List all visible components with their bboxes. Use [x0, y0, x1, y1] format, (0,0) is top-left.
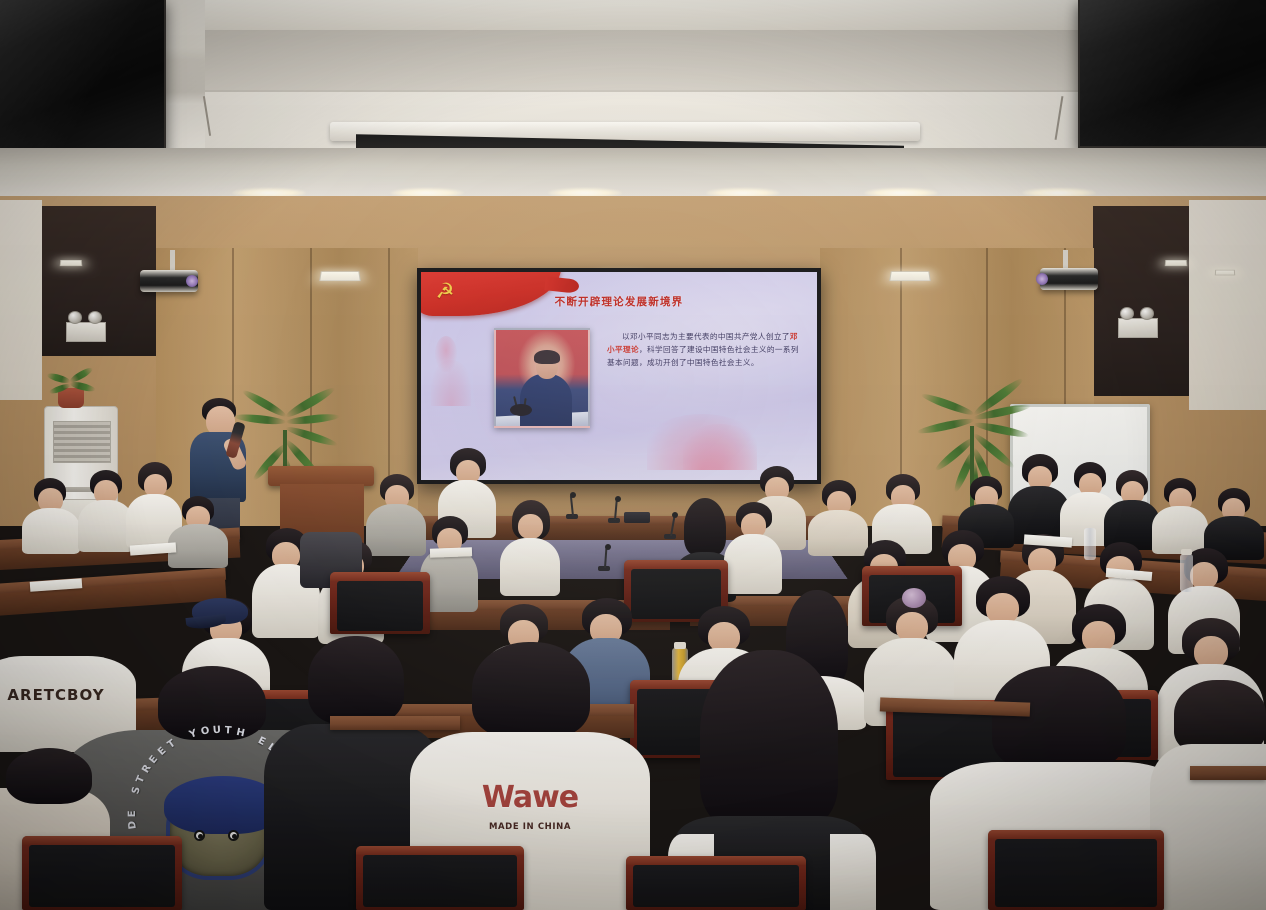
tee-text-wawe-sub: MADE IN CHINA: [410, 822, 650, 832]
ceiling-light-panel-3: [889, 271, 931, 281]
audience-person-r4: [1152, 478, 1210, 554]
hair-scrunchie: [902, 588, 926, 608]
hoodie-arc-char: U: [212, 725, 221, 737]
microphone-head-2: [615, 496, 621, 502]
audience-person-l1: [22, 478, 84, 554]
ceiling-light-panel-1: [319, 271, 361, 281]
hoodie-arc-char: T: [224, 725, 232, 736]
photo-suit: [520, 374, 572, 428]
slide-body-part1: 以邓小平同志为主要代表的中国共产党人创立了: [622, 332, 790, 341]
hoodie-arc-char: E: [156, 745, 169, 758]
hoodie-arc-char: R: [140, 763, 153, 775]
projector-mount-left: [170, 250, 175, 272]
water-bottle-cap: [1181, 549, 1192, 555]
audience-person-m2: [500, 500, 562, 596]
ceiling-downlight-right: [1165, 260, 1188, 266]
wall-panel-light-right: [1189, 200, 1266, 410]
hoodie-arc-char: D: [127, 820, 139, 830]
slide-decoration-mountain-right-2: [683, 424, 757, 470]
emergency-lamp-right-1: [1120, 307, 1134, 320]
ceiling-display-right: [1078, 0, 1266, 148]
hoodie-arc-char: O: [200, 725, 211, 738]
podium-top: [268, 466, 374, 486]
audience-person-l4: [168, 496, 230, 566]
hoodie-arc-char: S: [130, 786, 143, 796]
tee-text-wawe: Wawe: [410, 780, 650, 815]
emergency-lamp-left-1: [68, 311, 82, 324]
wall-seam-3: [388, 248, 390, 478]
ceiling-display-left: [0, 0, 166, 154]
plant-on-ac: [46, 368, 100, 392]
emergency-light-fixture-left: [66, 322, 106, 342]
chair-front-3: [626, 856, 806, 910]
chair-front-2: [356, 846, 524, 910]
projector-mount-right: [1063, 250, 1068, 270]
hoodie-arc-char: E: [127, 810, 138, 817]
chair-front-1: [22, 836, 182, 910]
desk-front-far-right: [1190, 766, 1266, 780]
water-bottle-2: [1084, 528, 1096, 560]
emergency-lamp-left-2: [88, 311, 102, 324]
emergency-lamp-right-2: [1140, 307, 1154, 320]
emergency-light-fixture-right: [1118, 318, 1158, 338]
conference-control-unit: [624, 512, 650, 523]
slide-body-text: 以邓小平同志为主要代表的中国共产党人创立了邓小平理论，科学回答了建设中国特色社会…: [607, 330, 803, 370]
ceiling-projector-right: [1040, 268, 1098, 290]
hoodie-arc-char: T: [135, 774, 148, 785]
ceiling-downlight-right-2: [1215, 270, 1235, 276]
lecture-hall-photo: ☭ 不断开辟理论发展新境界 以邓小平同志为主要代表的中国共产党人创立了邓小平理论…: [0, 0, 1266, 910]
wall-seam-4: [900, 248, 902, 494]
deng-xiaoping-photo: [494, 328, 590, 428]
slide-decoration-pagoda: [435, 336, 457, 372]
wall-panel-light-left: [0, 200, 42, 400]
microphone-head-1: [570, 492, 576, 498]
tee-text-aretcboy: ARETCBOY: [0, 686, 136, 704]
water-bottle: [1180, 554, 1193, 592]
notebook-5: [430, 547, 472, 557]
wall-panel-dark-right: [1093, 206, 1189, 396]
projector-lens-left: [186, 275, 198, 287]
photo-hair: [534, 350, 560, 364]
ceiling-downlight-left: [60, 260, 83, 266]
chair-mid-1: [330, 572, 430, 634]
photo-microphone-cluster: [510, 404, 532, 416]
slide-title: 不断开辟理论发展新境界: [421, 294, 817, 309]
desk-front-left: [330, 716, 460, 730]
chair-front-4: [988, 830, 1164, 910]
audience-person-m4: [726, 502, 784, 594]
microphone-head-5: [605, 544, 611, 550]
hoodie-arc-char: E: [147, 754, 160, 766]
projector-lens-right: [1036, 273, 1048, 285]
front-person-white-far-right: [1150, 700, 1266, 910]
